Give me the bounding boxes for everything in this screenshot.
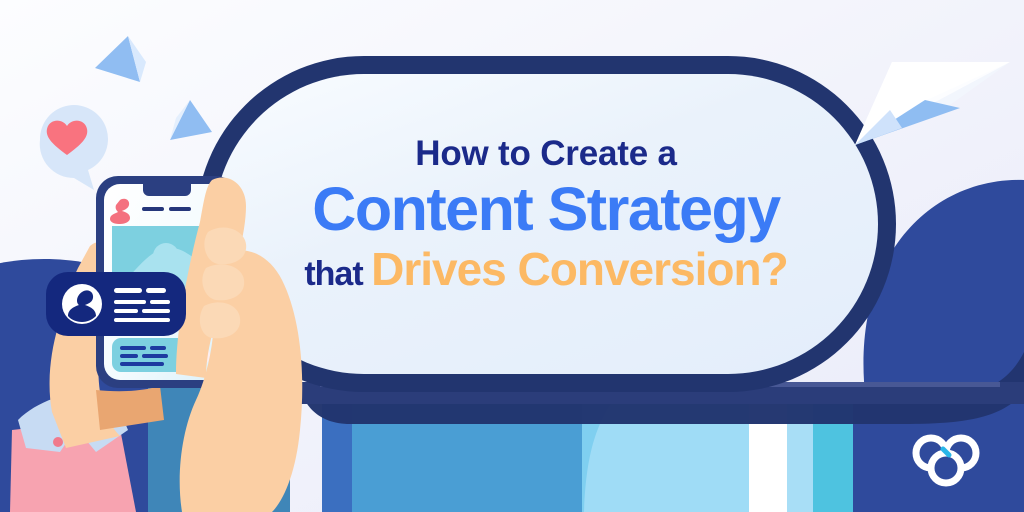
headline-line-3: that Drives Conversion? — [236, 246, 856, 292]
hero-banner: How to Create a Content Strategy that Dr… — [0, 0, 1024, 512]
headline-line-3-highlight: Drives Conversion? — [371, 243, 788, 295]
headline-line-1: How to Create a — [236, 136, 856, 171]
notification-card — [46, 272, 186, 336]
headline-line-2: Content Strategy — [236, 179, 856, 240]
cuff-button — [53, 437, 63, 447]
headline-line-3-prefix: that — [304, 255, 371, 293]
headline-block: How to Create a Content Strategy that Dr… — [236, 136, 856, 292]
phone-notch — [143, 184, 191, 196]
